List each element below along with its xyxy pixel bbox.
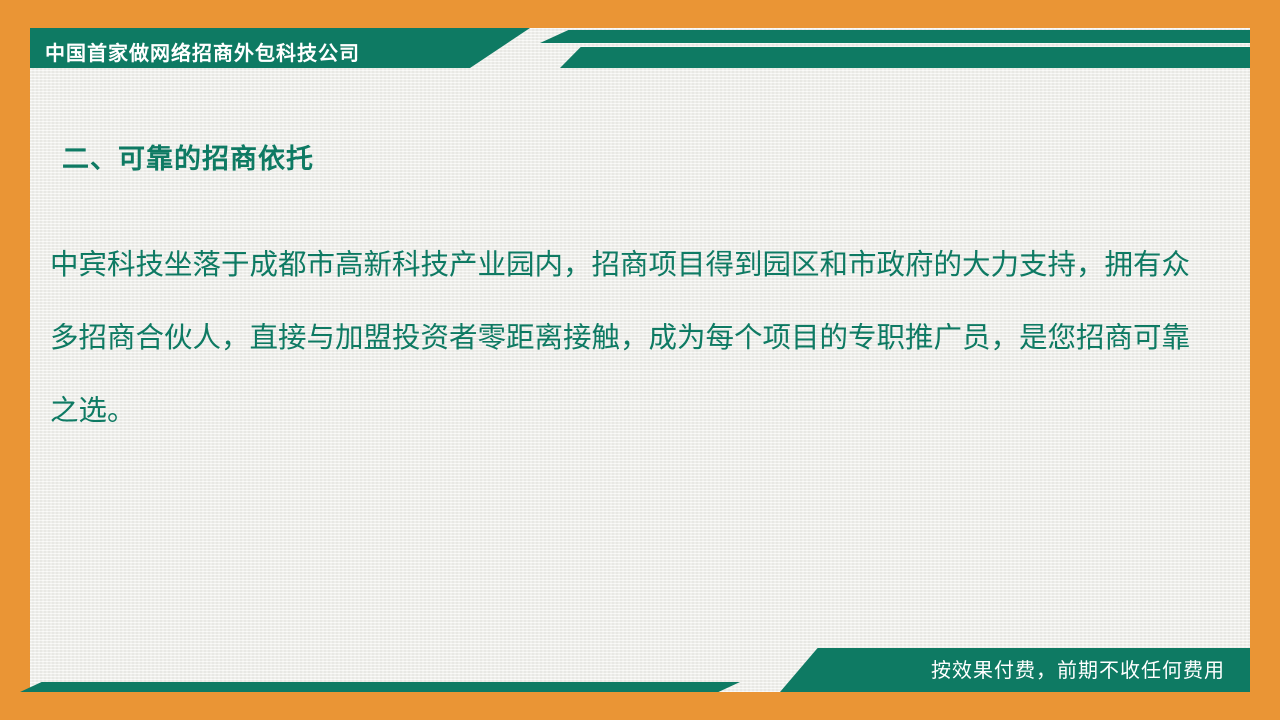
header-title: 中国首家做网络招商外包科技公司	[45, 37, 360, 66]
presentation-slide: 中国首家做网络招商外包科技公司 二、可靠的招商依托 中宾科技坐落于成都市高新科技…	[0, 0, 1280, 720]
slide-header-band: 中国首家做网络招商外包科技公司	[30, 28, 1250, 68]
header-stripe-upper	[540, 30, 1250, 43]
footer-stripe	[20, 682, 740, 692]
section-paragraph: 中宾科技坐落于成都市高新科技产业园内，招商项目得到园区和市政府的大力支持，拥有众…	[50, 228, 1190, 447]
footer-tagline: 按效果付费，前期不收任何费用	[931, 654, 1225, 683]
section-heading: 二、可靠的招商依托	[62, 137, 314, 176]
header-stripe-lower	[560, 47, 1250, 68]
